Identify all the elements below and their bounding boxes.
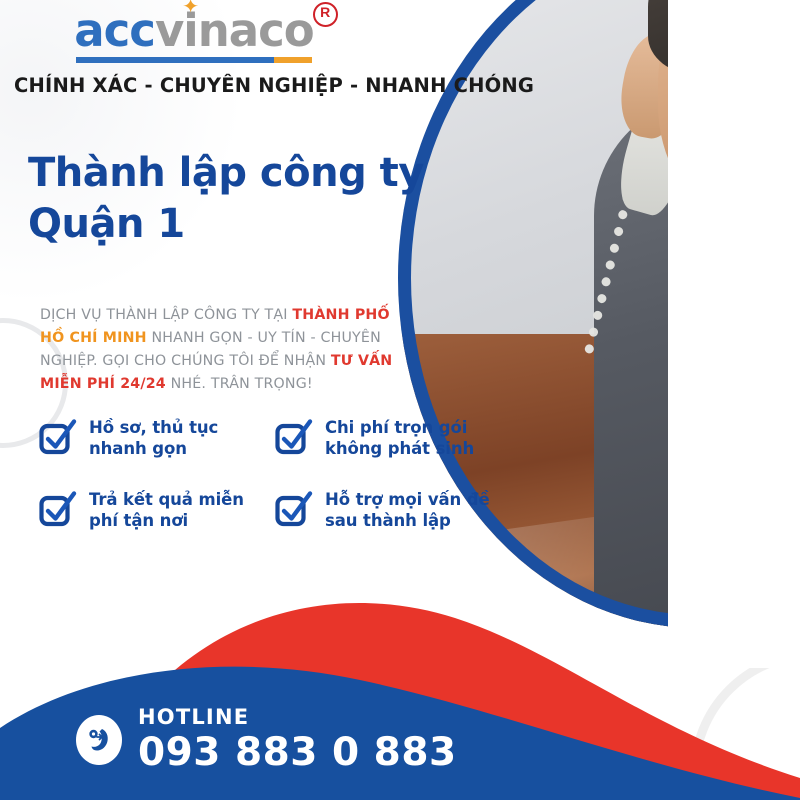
- feature-item-ho-tro-van-de: Hỗ trợ mọi vấn đề sau thành lập: [274, 487, 492, 531]
- check-box-icon: [274, 489, 314, 529]
- headline-line-1: Thành lập công ty: [28, 148, 428, 199]
- logo-text-acc: acc: [74, 4, 155, 57]
- feature-line-1: Trả kết quả miễn: [89, 490, 244, 509]
- feature-label: Hồ sơ, thủ tục nhanh gọn: [89, 415, 218, 459]
- feature-label: Trả kết quả miễn phí tận nơi: [89, 487, 244, 531]
- feature-line-1: Chi phí trọn gói: [325, 418, 467, 437]
- hotline-label: HOTLINE: [138, 707, 457, 728]
- promo-banner: ✦ accvinaco R CHÍNH XÁC - CHUYÊN NGHIỆP …: [0, 0, 800, 800]
- desc-highlight-city-name: HỒ CHÍ MINH: [40, 330, 147, 346]
- hotline-text: HOTLINE 093 883 0 883: [138, 707, 457, 772]
- hotline-block[interactable]: HOTLINE 093 883 0 883: [76, 707, 457, 772]
- feature-line-2: sau thành lập: [325, 511, 451, 530]
- feature-line-2: phí tận nơi: [89, 511, 188, 530]
- feature-line-1: Hồ sơ, thủ tục: [89, 418, 218, 437]
- phone-icon: [76, 715, 122, 765]
- feature-list: Hồ sơ, thủ tục nhanh gọn Chi phí trọn gó…: [38, 415, 508, 531]
- headline-line-2: Quận 1: [28, 199, 428, 250]
- page-title: Thành lập công ty Quận 1: [28, 148, 428, 250]
- feature-item-ho-so-thu-tuc: Hồ sơ, thủ tục nhanh gọn: [38, 415, 256, 459]
- feature-line-2: không phát sinh: [325, 439, 474, 458]
- company-logo[interactable]: ✦ accvinaco R CHÍNH XÁC - CHUYÊN NGHIỆP …: [14, 8, 374, 97]
- feature-label: Chi phí trọn gói không phát sinh: [325, 415, 474, 459]
- check-box-icon: [38, 489, 78, 529]
- feature-label: Hỗ trợ mọi vấn đề sau thành lập: [325, 487, 490, 531]
- description-paragraph: DỊCH VỤ THÀNH LẬP CÔNG TY TẠI THÀNH PHỐ …: [40, 304, 412, 396]
- feature-line-2: nhanh gọn: [89, 439, 187, 458]
- logo-text-vinaco: vinaco: [155, 4, 314, 57]
- feature-line-1: Hỗ trợ mọi vấn đề: [325, 490, 490, 509]
- desc-highlight-city-label: THÀNH PHỐ: [292, 307, 389, 323]
- check-box-icon: [274, 417, 314, 457]
- feature-item-chi-phi-tron-goi: Chi phí trọn gói không phát sinh: [274, 415, 492, 459]
- desc-segment-6: NHÉ. TRÂN TRỌNG!: [166, 376, 313, 392]
- desc-segment-1: DỊCH VỤ THÀNH LẬP CÔNG TY TẠI: [40, 307, 292, 323]
- logo-mark: ✦ accvinaco R: [74, 8, 313, 63]
- hotline-number[interactable]: 093 883 0 883: [138, 733, 457, 772]
- logo-underline: [76, 57, 312, 63]
- registered-trademark-icon: R: [313, 2, 338, 27]
- check-box-icon: [38, 417, 78, 457]
- feature-item-tra-ket-qua: Trả kết quả miễn phí tận nơi: [38, 487, 256, 531]
- star-icon: ✦: [182, 0, 199, 17]
- brand-tagline: CHÍNH XÁC - CHUYÊN NGHIỆP - NHANH CHÓNG: [14, 74, 374, 97]
